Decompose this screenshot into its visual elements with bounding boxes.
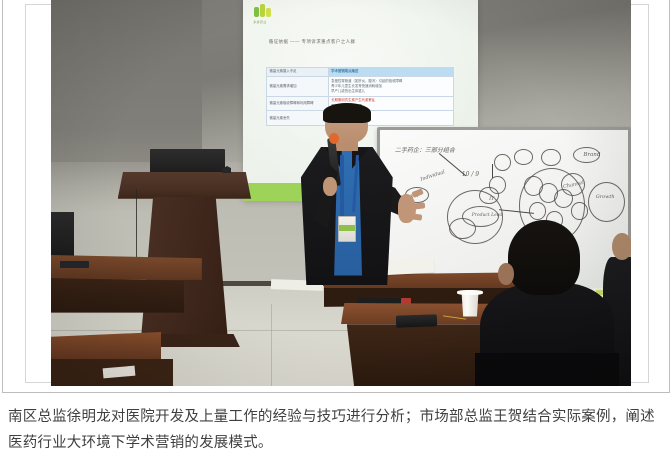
desk-left-upper-shadow xyxy=(51,278,184,313)
presenter-hair xyxy=(323,103,371,123)
whiteboard-circle xyxy=(571,202,588,220)
whiteboard-circle xyxy=(479,187,498,205)
whiteboard-circle xyxy=(588,182,625,222)
table-cell-value: 学术营销观点阐述 xyxy=(329,67,454,76)
desk-item-folder xyxy=(60,261,89,269)
company-logo-icon: 永春药业 xyxy=(252,2,278,22)
table-front-support xyxy=(347,324,492,386)
whiteboard-circle xyxy=(514,149,533,165)
table-cell-label: 微量元素需求增加 xyxy=(267,77,329,97)
attendee-head xyxy=(508,220,580,295)
presenter-left-hand xyxy=(323,177,337,197)
laptop xyxy=(150,149,225,176)
photo-caption: 南区总监徐明龙对医院开发及上量工作的经验与技巧进行分析；市场部总监王贺结合实际案… xyxy=(8,404,664,456)
attendee-chair xyxy=(475,353,620,386)
presentation-photo: 永春药业 循证依据 —— 专项诉求重点客户之人群 微量元素摄入不足 学术营销观点… xyxy=(51,0,631,386)
figure-block: 永春药业 循证依据 —— 专项诉求重点客户之人群 微量元素摄入不足 学术营销观点… xyxy=(2,0,670,393)
badge-strip xyxy=(339,225,356,231)
whiteboard-arrow xyxy=(492,164,493,178)
floor-tile-line xyxy=(271,304,272,386)
second-attendee-head xyxy=(612,233,631,260)
speaker-presenter xyxy=(283,106,411,326)
paper-cup-rim xyxy=(457,290,483,295)
paper-cup xyxy=(460,291,480,316)
whiteboard-circle xyxy=(529,202,546,220)
microphone-head-icon xyxy=(329,133,339,144)
company-logo-text: 永春药业 xyxy=(253,20,266,24)
slide-title: 循证依据 —— 专项诉求重点客户之人群 xyxy=(269,39,356,45)
presenter-id-badge xyxy=(338,216,357,242)
table-cell-value: 急慢性胃肠道（如肝炎、腹泻）引起的吸收障碍 青少年儿童生长发育快速消耗增加 早产… xyxy=(329,77,454,97)
presenter-lanyard xyxy=(340,155,343,221)
whiteboard-circle xyxy=(573,147,600,163)
attendee-ear xyxy=(498,263,513,285)
whiteboard-circle xyxy=(541,149,560,167)
seated-attendee xyxy=(480,220,619,386)
table-cell-label: 微量元素摄入不足 xyxy=(267,67,329,76)
audio-speaker-box xyxy=(51,212,74,262)
table-row: 微量元素摄入不足 学术营销观点阐述 xyxy=(267,67,454,76)
whiteboard-circle xyxy=(561,173,585,196)
table-row: 微量元素需求增加 急慢性胃肠道（如肝炎、腹泻）引起的吸收障碍 青少年儿童生长发育… xyxy=(267,77,454,97)
